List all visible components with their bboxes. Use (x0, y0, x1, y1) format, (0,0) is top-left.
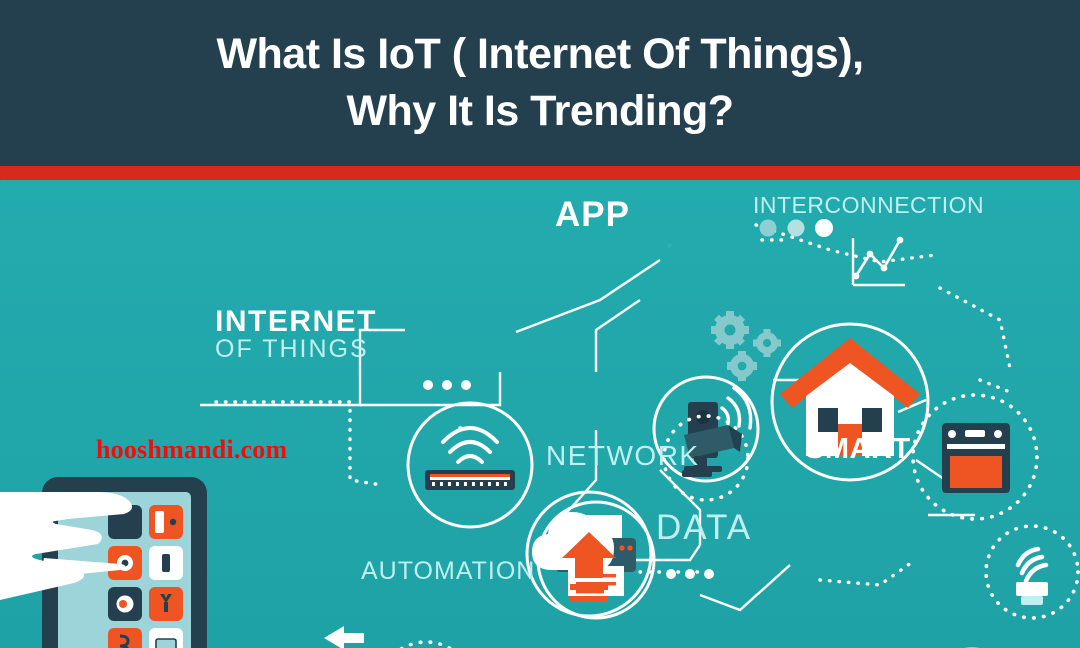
label-internet: INTERNET (215, 305, 377, 339)
page-title-line-1: What Is IoT ( Internet Of Things), (216, 30, 863, 78)
label-smart: SMART (805, 433, 911, 466)
infographic-canvas: .solidline{stroke:#ffffff;stroke-width:2… (0, 180, 1080, 648)
page-title: What Is IoT ( Internet Of Things), Why I… (216, 26, 863, 140)
label-app: APP (555, 195, 630, 235)
cfl-bulb-icon (986, 526, 1078, 618)
iot-infographic-banner: What Is IoT ( Internet Of Things), Why I… (0, 0, 1080, 648)
label-of-things: OF THINGS (215, 335, 369, 364)
interconnection-dots (760, 219, 834, 237)
label-network: NETWORK (546, 440, 700, 472)
line-chart-icon (853, 237, 905, 285)
label-data: DATA (656, 508, 752, 548)
wifi-router-icon (408, 403, 532, 527)
site-watermark: hooshmandi.com (96, 435, 287, 465)
gears-icon (711, 311, 781, 381)
label-interconnection: INTERCONNECTION (753, 192, 984, 219)
banner-header: What Is IoT ( Internet Of Things), Why I… (0, 0, 1080, 166)
page-title-line-2: Why It Is Trending? (216, 83, 863, 140)
oven-icon (913, 395, 1037, 519)
accent-divider-bar (0, 166, 1080, 180)
infographic-illustration: .solidline{stroke:#ffffff;stroke-width:2… (0, 180, 1080, 648)
label-automation: AUTOMATION (361, 557, 535, 586)
exchange-arrows-icon (324, 626, 370, 648)
gamepad-icon (378, 642, 474, 648)
